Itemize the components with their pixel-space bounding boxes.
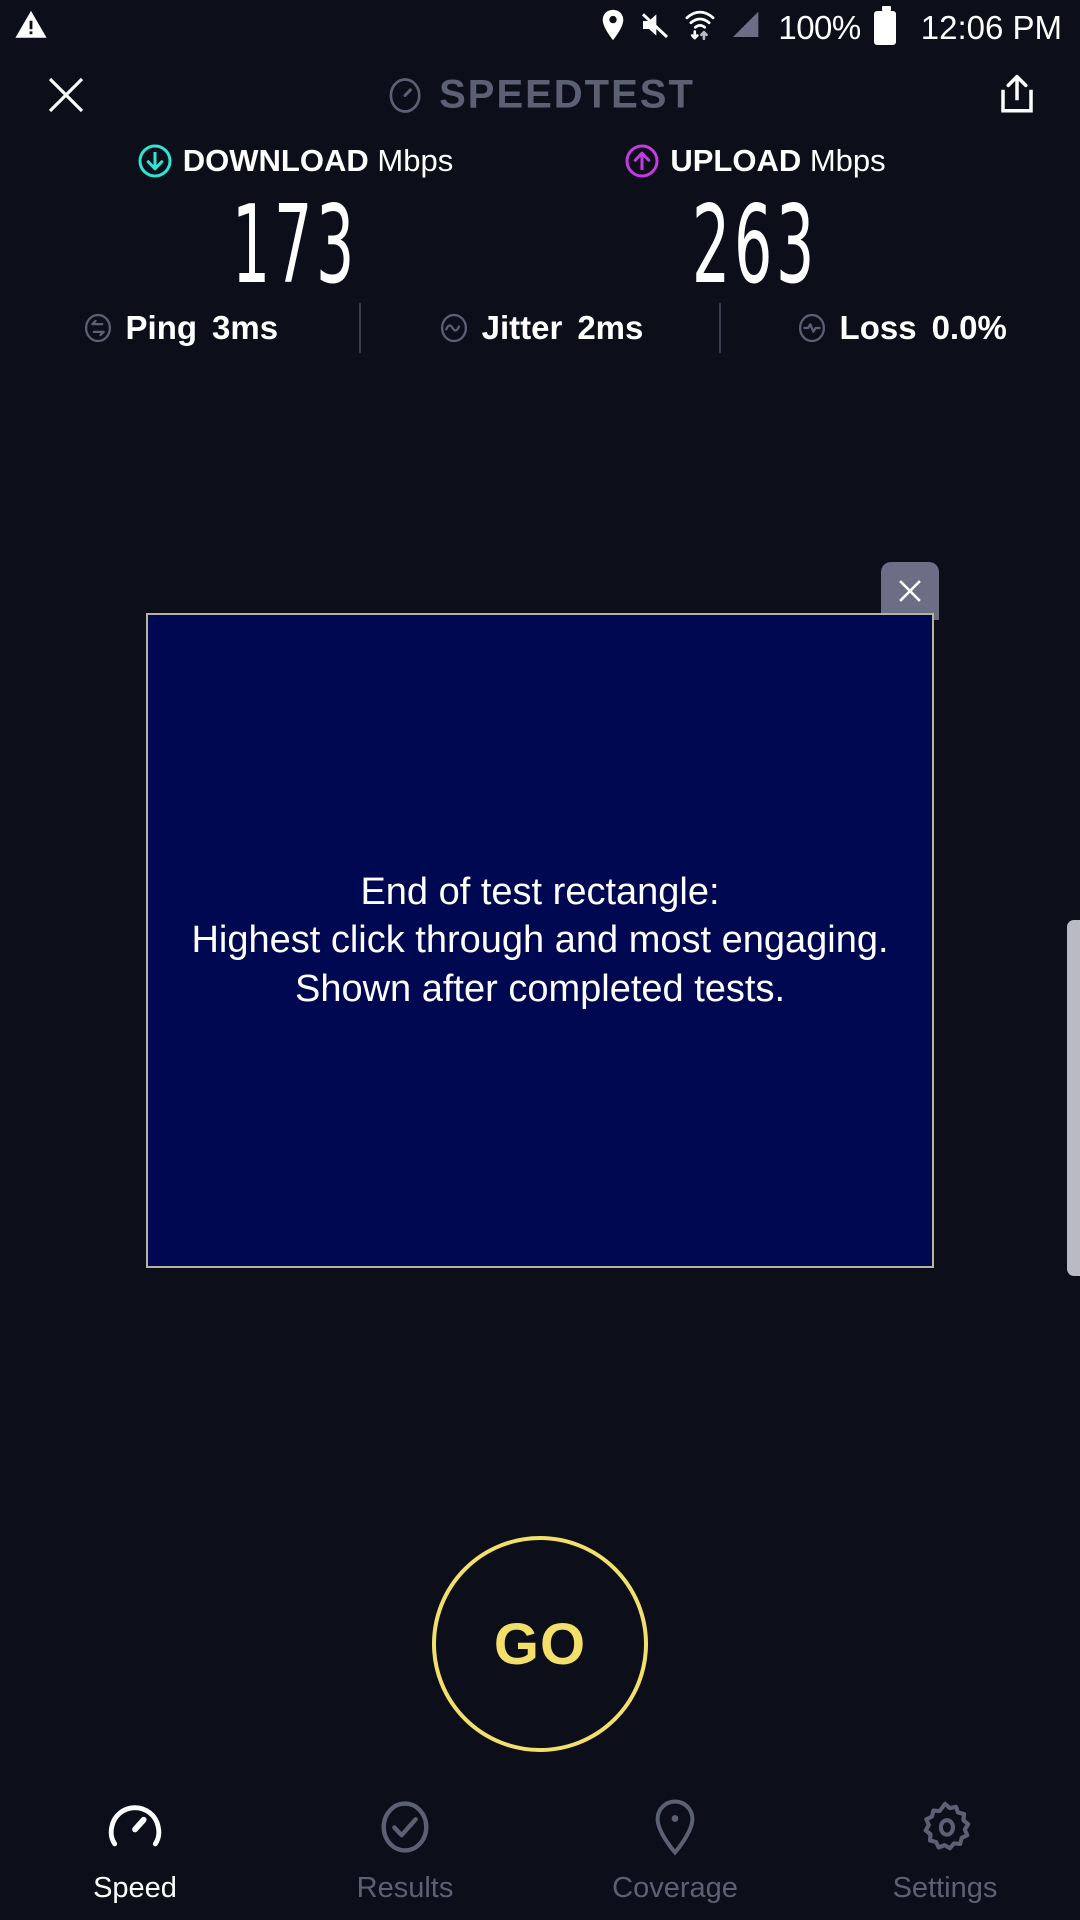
location-pin-icon [600, 8, 626, 47]
ad-close-button[interactable] [881, 562, 939, 620]
download-label: DOWNLOAD Mbps [183, 143, 453, 179]
loss-label: Loss [840, 309, 917, 347]
speedtest-app-screen: 100% 12:06 PM SPEEDTEST [0, 0, 1080, 1920]
jitter-label: Jitter [482, 309, 563, 347]
results-panel: DOWNLOAD Mbps 173 UPLOAD Mbps 263 [0, 140, 1080, 300]
volume-muted-icon [639, 9, 671, 46]
ping-stat: Ping 3ms [0, 309, 359, 347]
speedometer-icon [385, 75, 425, 115]
jitter-value: 2ms [577, 309, 643, 347]
status-bar-right: 100% 12:06 PM [600, 8, 1062, 47]
go-button-label: GO [494, 1611, 586, 1678]
close-button[interactable] [38, 67, 94, 123]
go-button[interactable]: GO [432, 1536, 648, 1752]
upload-result: UPLOAD Mbps 263 [540, 140, 970, 300]
loss-value: 0.0% [932, 309, 1007, 347]
nav-item-settings[interactable]: Settings [810, 1780, 1080, 1920]
gear-icon [916, 1796, 974, 1858]
battery-full-icon [874, 11, 896, 45]
connection-stats-row: Ping 3ms Jitter 2ms Loss 0.0% [0, 300, 1080, 356]
upload-header: UPLOAD Mbps [540, 140, 970, 182]
jitter-icon [437, 311, 471, 345]
battery-percent-label: 100% [778, 9, 860, 47]
ping-value: 3ms [212, 309, 278, 347]
upload-arrow-icon [624, 143, 660, 179]
loss-stat: Loss 0.0% [721, 309, 1080, 347]
check-circle-icon [376, 1796, 434, 1858]
app-title-text: SPEEDTEST [439, 73, 695, 118]
nav-label-coverage: Coverage [612, 1872, 738, 1905]
speed-results-row: DOWNLOAD Mbps 173 UPLOAD Mbps 263 [0, 140, 1080, 300]
ad-text: End of test rectangle: Highest click thr… [185, 868, 894, 1014]
download-result: DOWNLOAD Mbps 173 [110, 140, 540, 300]
upload-label: UPLOAD Mbps [670, 143, 885, 179]
close-x-icon [42, 71, 90, 119]
status-bar-left [14, 8, 48, 47]
location-pin-icon [646, 1796, 704, 1858]
app-header: SPEEDTEST [0, 55, 1080, 135]
share-upload-icon [996, 71, 1038, 119]
nav-label-results: Results [357, 1872, 454, 1905]
download-value: 173 [180, 192, 409, 300]
status-bar: 100% 12:06 PM [0, 0, 1080, 55]
speedometer-icon [106, 1796, 164, 1858]
ping-label: Ping [126, 309, 198, 347]
wifi-transfer-icon [684, 8, 716, 47]
nav-label-speed: Speed [93, 1872, 177, 1905]
jitter-stat: Jitter 2ms [361, 309, 720, 347]
loss-icon [795, 311, 829, 345]
nav-item-results[interactable]: Results [270, 1780, 540, 1920]
advertisement-banner[interactable]: End of test rectangle: Highest click thr… [146, 613, 934, 1268]
download-arrow-icon [137, 143, 173, 179]
ping-icon [81, 311, 115, 345]
warning-triangle-icon [14, 8, 48, 47]
vertical-scrollbar[interactable] [1067, 920, 1080, 1276]
upload-value: 263 [622, 192, 889, 300]
cellular-signal-icon [729, 9, 761, 46]
nav-item-speed[interactable]: Speed [0, 1780, 270, 1920]
share-button[interactable] [992, 67, 1042, 123]
app-title: SPEEDTEST [385, 73, 695, 118]
close-x-icon [893, 574, 927, 608]
download-header: DOWNLOAD Mbps [110, 140, 480, 182]
nav-item-coverage[interactable]: Coverage [540, 1780, 810, 1920]
clock-label: 12:06 PM [921, 9, 1062, 47]
nav-label-settings: Settings [893, 1872, 998, 1905]
bottom-navigation: Speed Results Coverage [0, 1780, 1080, 1920]
